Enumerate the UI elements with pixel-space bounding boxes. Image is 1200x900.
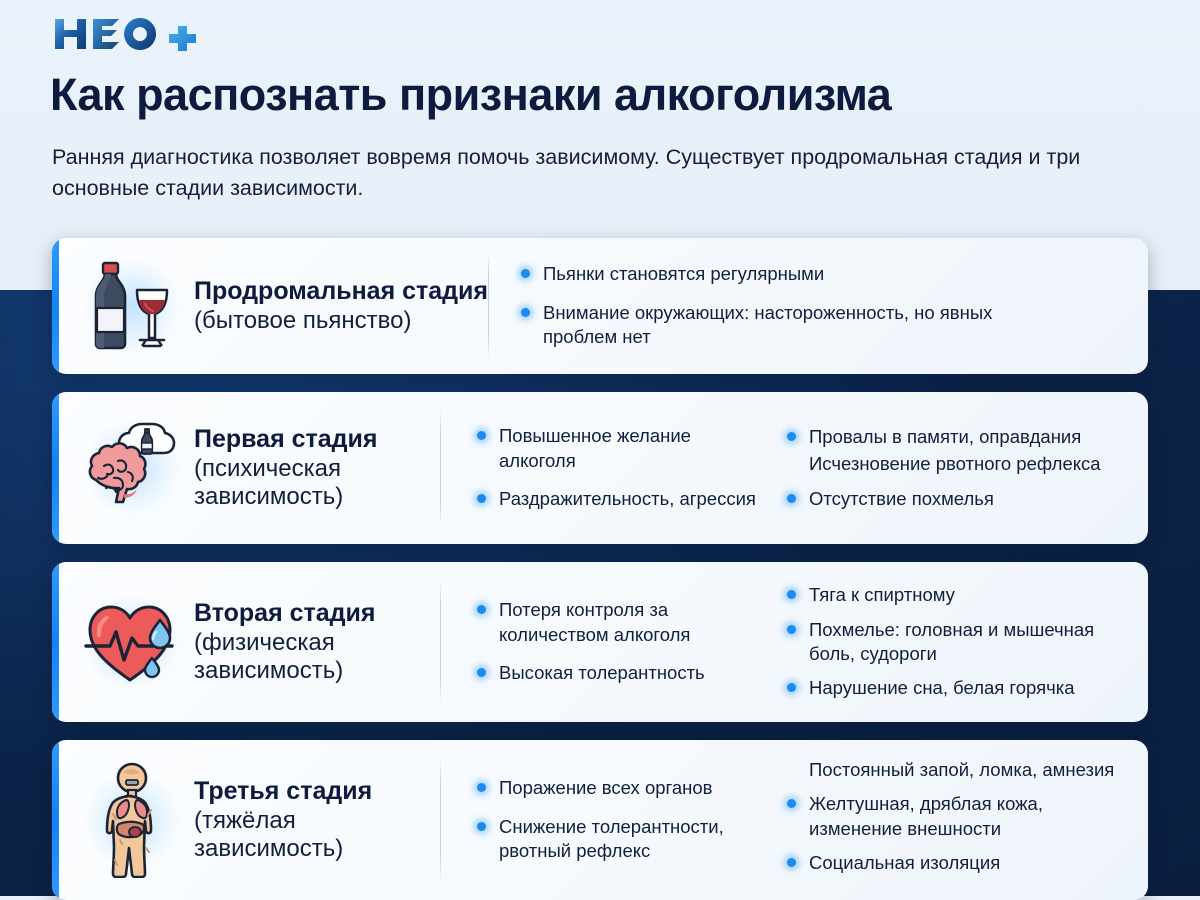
stage-heading: Вторая стадия (физическая зависимость) [52, 562, 440, 722]
list-item: Раздражительность, агрессия [475, 487, 763, 511]
list-item: Исчезновение рвотного рефлекса [785, 452, 1136, 476]
symptom-column: Тяга к спиртному Похмелье: головная и мы… [763, 578, 1136, 706]
stage-subtitle: (бытовое пьянство) [194, 307, 488, 335]
stage-subtitle: (физическая зависимость) [194, 629, 440, 685]
symptom-column: Поражение всех органов Снижение толерант… [441, 769, 763, 870]
symptom-column: Потеря контроля за количеством алкоголя … [441, 591, 763, 692]
brain-with-alcohol-thought-icon [78, 414, 186, 522]
page-title: Как распознать признаки алкоголизма [50, 72, 1170, 119]
stage-card-first[interactable]: Первая стадия (психическая зависимость) … [52, 392, 1148, 544]
list-item: Нарушение сна, белая горячка [785, 676, 1136, 700]
stage-card-second[interactable]: Вторая стадия (физическая зависимость) П… [52, 562, 1148, 722]
list-item: Тяга к спиртному [785, 583, 1136, 607]
stage-heading: Первая стадия (психическая зависимость) [52, 392, 440, 544]
list-item: Повышенное желание алкоголя [475, 424, 763, 473]
brand-logo [52, 14, 204, 54]
stage-name: Вторая стадия [194, 599, 440, 628]
stage-symptoms: Пьянки становятся регулярными Внимание о… [489, 238, 1148, 374]
stage-text: Первая стадия (психическая зависимость) [194, 425, 440, 510]
stage-card-third[interactable]: Третья стадия (тяжёлая зависимость) Пора… [52, 740, 1148, 900]
stage-symptoms: Потеря контроля за количеством алкоголя … [441, 562, 1148, 722]
stage-symptoms: Поражение всех органов Снижение толерант… [441, 740, 1148, 900]
human-body-organs-icon [78, 766, 186, 874]
stage-text: Вторая стадия (физическая зависимость) [194, 599, 440, 684]
stage-name: Первая стадия [194, 425, 440, 454]
symptom-column: Постоянный запой, ломка, амнезия Желтушн… [763, 760, 1136, 881]
list-item: Желтушная, дряблая кожа, изменение внешн… [785, 792, 1136, 841]
stage-heading: Третья стадия (тяжёлая зависимость) [52, 740, 440, 900]
symptom-column: Пьянки становятся регулярными Внимание о… [489, 255, 1009, 356]
list-item: Пьянки становятся регулярными [519, 262, 1009, 286]
list-item: Похмелье: головная и мышечная боль, судо… [785, 618, 1136, 667]
stage-subtitle: (тяжёлая зависимость) [194, 807, 440, 863]
page-subtitle: Ранняя диагностика позволяет вовремя пом… [52, 142, 1122, 203]
symptom-column: Провалы в памяти, оправдания Исчезновени… [763, 420, 1136, 516]
stage-text: Продромальная стадия (бытовое пьянство) [194, 277, 488, 334]
stage-subtitle: (психическая зависимость) [194, 455, 440, 511]
wine-bottle-and-glass-icon [78, 252, 186, 360]
stage-name: Продромальная стадия [194, 277, 488, 306]
stage-name: Третья стадия [194, 777, 440, 806]
list-item: Внимание окружающих: настороженность, но… [519, 301, 1009, 350]
list-item: Поражение всех органов [475, 776, 763, 800]
list-item: Провалы в памяти, оправдания [785, 425, 1136, 449]
list-item: Отсутствие похмелья [785, 487, 1136, 511]
list-item: Снижение толерантности, рвотный рефлекс [475, 815, 763, 864]
heo-plus-logo-icon [52, 14, 204, 54]
list-item: Потеря контроля за количеством алкоголя [475, 598, 763, 647]
heart-with-pulse-and-sweat-icon [78, 588, 186, 696]
list-item: Высокая толерантность [475, 661, 763, 685]
list-item: Социальная изоляция [785, 851, 1136, 875]
stage-text: Третья стадия (тяжёлая зависимость) [194, 777, 440, 862]
stages-list: Продромальная стадия (бытовое пьянство) … [0, 0, 1200, 896]
list-item: Постоянный запой, ломка, амнезия [785, 758, 1136, 782]
stage-card-prodromal[interactable]: Продромальная стадия (бытовое пьянство) … [52, 238, 1148, 374]
symptom-column: Повышенное желание алкоголя Раздражитель… [441, 417, 763, 518]
stage-symptoms: Повышенное желание алкоголя Раздражитель… [441, 392, 1148, 544]
stage-heading: Продромальная стадия (бытовое пьянство) [52, 238, 488, 374]
